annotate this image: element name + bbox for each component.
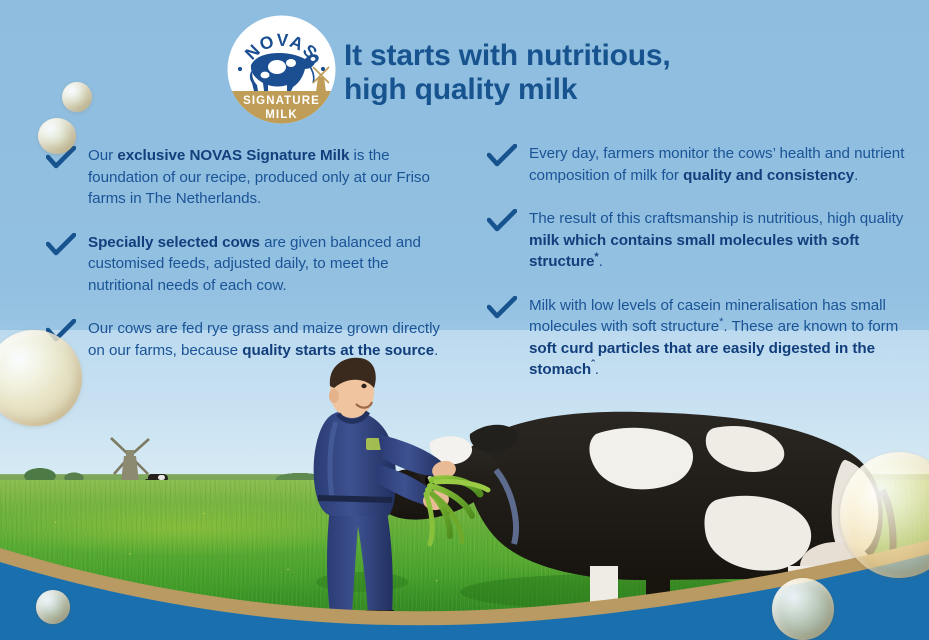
gold-wave-divider — [0, 522, 929, 640]
bullet-column-right: Every day, farmers monitor the cows’ hea… — [487, 143, 907, 403]
bullet-text: Specially selected cows are given balanc… — [88, 232, 450, 297]
bullet-item: Our cows are fed rye grass and maize gro… — [46, 318, 450, 361]
bullet-text: Our cows are fed rye grass and maize gro… — [88, 318, 450, 361]
bullet-text: Milk with low levels of casein mineralis… — [529, 295, 907, 381]
novas-signature-milk-logo: NOVAS SIGNATURE MILK — [225, 13, 338, 126]
logo-milk-text: MILK — [265, 109, 298, 121]
checkmark-icon — [487, 209, 517, 233]
bullet-item: The result of this craftsmanship is nutr… — [487, 208, 907, 273]
page-title: It starts with nutritious, high quality … — [344, 39, 904, 107]
checkmark-icon — [46, 146, 76, 170]
poster-root: NOVAS SIGNATURE MILK It starts with nutr — [0, 0, 929, 640]
checkmark-icon — [46, 319, 76, 343]
bullet-text: Our exclusive NOVAS Signature Milk is th… — [88, 145, 450, 210]
title-line-1: It starts with nutritious, — [344, 39, 670, 72]
checkmark-icon — [487, 144, 517, 168]
bullet-item: Our exclusive NOVAS Signature Milk is th… — [46, 145, 450, 210]
checkmark-icon — [487, 296, 517, 320]
bullet-item: Every day, farmers monitor the cows’ hea… — [487, 143, 907, 186]
checkmark-icon — [46, 233, 76, 257]
bullet-text: Every day, farmers monitor the cows’ hea… — [529, 143, 907, 186]
bullet-item: Specially selected cows are given balanc… — [46, 232, 450, 297]
bullet-item: Milk with low levels of casein mineralis… — [487, 295, 907, 381]
bullet-text: The result of this craftsmanship is nutr… — [529, 208, 907, 273]
bubble-top-left-small — [62, 82, 92, 112]
bullet-column-left: Our exclusive NOVAS Signature Milk is th… — [46, 145, 450, 383]
logo-signature-text: SIGNATURE — [243, 95, 320, 107]
title-line-2: high quality milk — [344, 73, 904, 107]
